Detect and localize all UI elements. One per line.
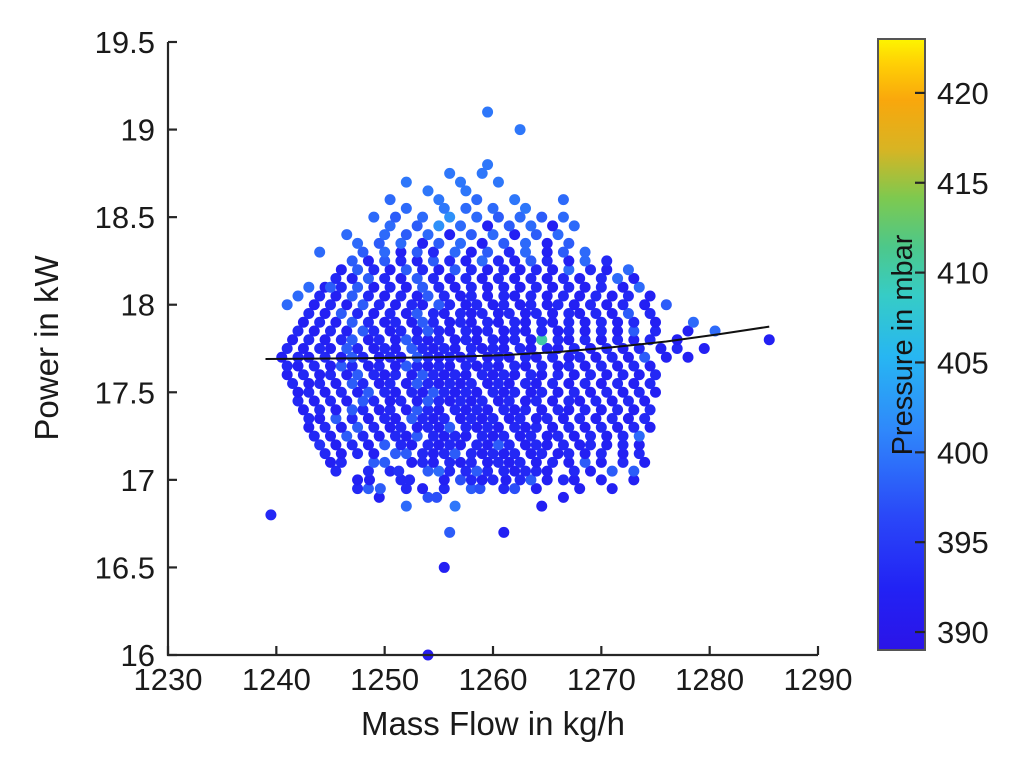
scatter-point [607, 466, 618, 477]
scatter-point [498, 527, 509, 538]
x-tick-label: 1250 [350, 662, 419, 697]
scatter-point [580, 247, 591, 258]
scatter-point [444, 229, 455, 240]
scatter-point [536, 501, 547, 512]
scatter-point [504, 220, 515, 231]
scatter-plot-figure: 1230124012501260127012801290 1616.51717.… [0, 0, 1024, 757]
scatter-point [444, 527, 455, 538]
colorbar-label: Pressure in mbar [887, 234, 919, 455]
scatter-point [493, 177, 504, 188]
scatter-point [379, 457, 390, 468]
x-tick-label: 1240 [242, 662, 311, 697]
scatter-point [433, 220, 444, 231]
y-tick-label: 16.5 [95, 550, 155, 585]
scatter-point [601, 255, 612, 266]
scatter-point [569, 220, 580, 231]
scatter-point [509, 194, 520, 205]
scatter-point [433, 238, 444, 249]
scatter-point [574, 273, 585, 284]
scatter-point [439, 562, 450, 573]
scatter-point [401, 177, 412, 188]
scatter-point [628, 466, 639, 477]
y-tick-label: 17.5 [95, 375, 155, 410]
scatter-point [303, 282, 314, 293]
scatter-point [525, 220, 536, 231]
scatter-point [431, 492, 442, 503]
scatter-point [477, 238, 488, 249]
scatter-point [336, 264, 347, 275]
scatter-point [520, 203, 531, 214]
scatter-point [455, 220, 466, 231]
scatter-point [612, 273, 623, 284]
y-tick-label: 18 [121, 288, 155, 323]
scatter-point [401, 203, 412, 214]
scatter-point [482, 107, 493, 118]
scatter-point [341, 229, 352, 240]
scatter-point [352, 474, 363, 485]
scatter-point [444, 168, 455, 179]
scatter-point [368, 212, 379, 223]
scatter-point [404, 474, 415, 485]
scatter-point [488, 203, 499, 214]
scatter-point [433, 194, 444, 205]
scatter-point [607, 483, 618, 494]
scatter-point [471, 194, 482, 205]
x-tick-label: 1270 [567, 662, 636, 697]
scatter-point [265, 509, 276, 520]
y-tick-label: 19.5 [95, 25, 155, 60]
scatter-point [563, 238, 574, 249]
scatter-point [460, 203, 471, 214]
figure-canvas: 1230124012501260127012801290 1616.51717.… [0, 0, 1024, 757]
scatter-point [558, 492, 569, 503]
scatter-point [423, 185, 434, 196]
x-tick-label: 1280 [675, 662, 744, 697]
y-tick-label: 18.5 [95, 200, 155, 235]
scatter-point [645, 290, 656, 301]
scatter-point [393, 466, 404, 477]
scatter-point [466, 247, 477, 258]
scatter-point [515, 124, 526, 135]
colorbar-tick-label: 415 [937, 166, 989, 201]
scatter-point [558, 474, 569, 485]
colorbar-tick-label: 405 [937, 345, 989, 380]
colorbar-tick-label: 390 [937, 615, 989, 650]
scatter-point [401, 229, 412, 240]
scatter-point [390, 212, 401, 223]
scatter-point [623, 264, 634, 275]
scatter-point [375, 483, 386, 494]
scatter-point [558, 212, 569, 223]
scatter-point [385, 194, 396, 205]
scatter-point [417, 212, 428, 223]
colorbar-tick-label: 420 [937, 76, 989, 111]
scatter-point [417, 483, 428, 494]
scatter-point [482, 220, 493, 231]
x-tick-label: 1290 [784, 662, 853, 697]
scatter-point [596, 474, 607, 485]
scatter-point [482, 159, 493, 170]
y-tick-label: 17 [121, 463, 155, 498]
scatter-point [688, 317, 699, 328]
scatter-point [558, 194, 569, 205]
scatter-point [347, 255, 358, 266]
scatter-point [607, 290, 618, 301]
x-tick-label: 1260 [459, 662, 528, 697]
scatter-point [455, 238, 466, 249]
colorbar-tick-label: 395 [937, 525, 989, 560]
scatter-point [536, 212, 547, 223]
scatter-point [450, 501, 461, 512]
scatter-point [547, 220, 558, 231]
scatter-point [352, 238, 363, 249]
scatter-point [423, 229, 434, 240]
y-tick-label: 19 [121, 113, 155, 148]
scatter-point [455, 177, 466, 188]
scatter-point [282, 299, 293, 310]
scatter-point [466, 229, 477, 240]
colorbar-tick-label: 410 [937, 256, 989, 291]
scatter-point [520, 238, 531, 249]
scatter-point [314, 247, 325, 258]
y-axis-title: Power in kW [28, 255, 65, 441]
scatter-point [655, 343, 666, 354]
x-axis-tick-labels: 1230124012501260127012801290 [134, 662, 853, 697]
scatter-point [699, 343, 710, 354]
scatter-point [293, 290, 304, 301]
scatter-point [542, 238, 553, 249]
scatter-point [764, 334, 775, 345]
scatter-point [471, 212, 482, 223]
scatter-point [401, 501, 412, 512]
x-axis-title: Mass Flow in kg/h [361, 705, 625, 742]
y-axis-tick-labels: 1616.51717.51818.51919.5 [95, 25, 155, 673]
scatter-point [498, 238, 509, 249]
scatter-point [683, 352, 694, 363]
scatter-point [661, 299, 672, 310]
colorbar-tick-label: 400 [937, 435, 989, 470]
scatter-point [493, 255, 504, 266]
colorbar-tick-labels: 390395400405410415420 [937, 76, 989, 650]
y-tick-label: 16 [121, 638, 155, 673]
